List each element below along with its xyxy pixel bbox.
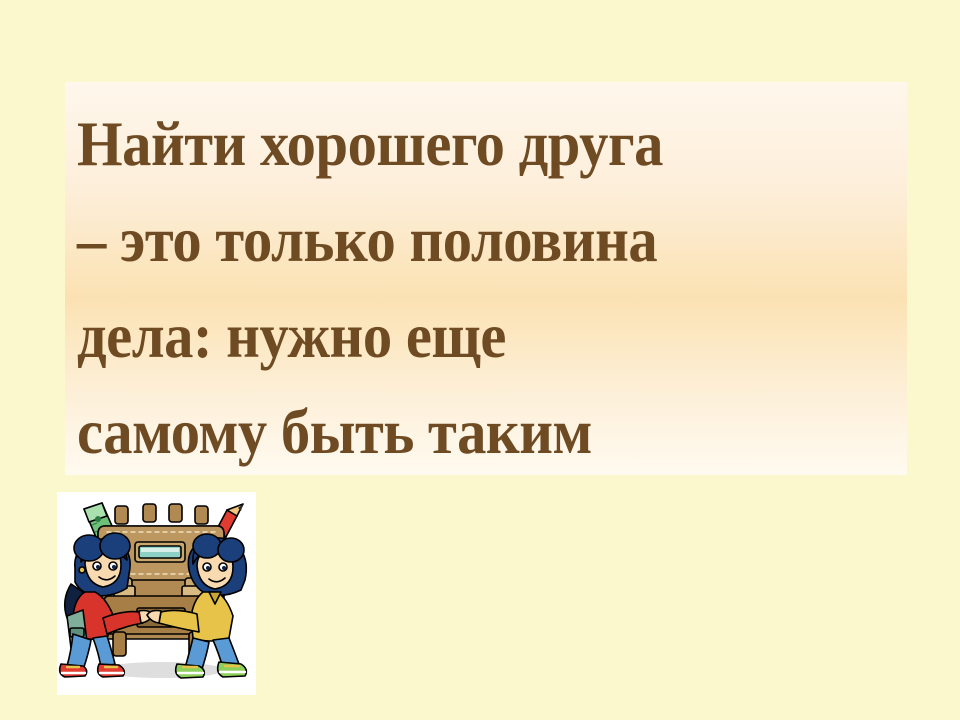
slide-canvas: Найти хорошего друга – это только полови… [0,0,960,720]
illustration-svg [57,492,256,695]
quote-line-2: – это только половина [77,192,849,288]
schoolbag-children-illustration [57,492,256,695]
quote-line-3: дела: нужно еще [77,288,849,384]
quote-line-4: самому быть таким [77,384,849,480]
quote-text-block: Найти хорошего друга – это только полови… [65,82,907,475]
quote-line-1: Найти хорошего друга [77,96,849,192]
